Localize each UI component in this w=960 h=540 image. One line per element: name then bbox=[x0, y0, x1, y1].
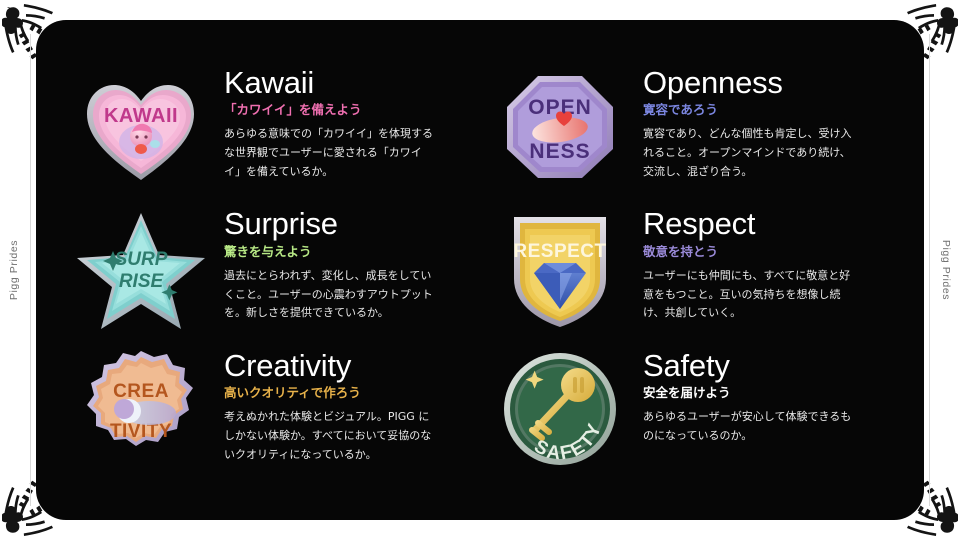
value-item-openness[interactable]: OPEN NESS Openness 寛容であろう 寛容であり、どんな個性も肯定… bbox=[491, 62, 894, 203]
values-grid: KAWAII Kawaii 「カワイイ」を備えよう あらゆる意味での「カワイイ」… bbox=[36, 20, 924, 520]
svg-text:KAWAII: KAWAII bbox=[104, 105, 178, 127]
badge-star-icon: SURP RISE bbox=[72, 203, 210, 331]
value-title-creativity: Creativity bbox=[224, 349, 475, 382]
svg-text:RESPECT: RESPECT bbox=[513, 241, 606, 262]
right-divider-rule bbox=[929, 34, 930, 506]
value-item-surprise[interactable]: SURP RISE Surprise 驚きを与えよう 過去にとらわれず、変化し、… bbox=[72, 203, 475, 344]
value-body-creativity: 考えぬかれた体験とビジュアル。PIGG にしかない体験か。すべてにおいて妥協のな… bbox=[224, 408, 436, 465]
badge-shield-icon: RESPECT bbox=[491, 203, 629, 331]
value-subtitle-kawaii: 「カワイイ」を備えよう bbox=[224, 102, 475, 119]
side-label-right: Pigg Prides bbox=[940, 240, 952, 300]
value-text-kawaii: Kawaii 「カワイイ」を備えよう あらゆる意味での「カワイイ」を体現するな世… bbox=[224, 62, 475, 182]
value-title-surprise: Surprise bbox=[224, 207, 475, 240]
value-body-kawaii: あらゆる意味での「カワイイ」を体現するな世界観でユーザーに愛される「カワイイ」を… bbox=[224, 125, 436, 182]
svg-text:NESS: NESS bbox=[529, 140, 590, 163]
value-item-respect[interactable]: RESPECT Respect 敬意を持とう ユーザーにも仲間にも、すべてに敬意… bbox=[491, 203, 894, 344]
value-title-openness: Openness bbox=[643, 66, 894, 99]
value-title-safety: Safety bbox=[643, 349, 894, 382]
value-body-openness: 寛容であり、どんな個性も肯定し、受け入れること。オープンマインドであり続け、交流… bbox=[643, 125, 855, 182]
value-text-surprise: Surprise 驚きを与えよう 過去にとらわれず、変化し、成長をしていくこと。… bbox=[224, 203, 475, 323]
svg-text:SURP: SURP bbox=[115, 249, 168, 270]
value-text-openness: Openness 寛容であろう 寛容であり、どんな個性も肯定し、受け入れること。… bbox=[643, 62, 894, 182]
svg-text:CREA: CREA bbox=[113, 381, 169, 402]
svg-text:RISE: RISE bbox=[119, 271, 165, 292]
value-subtitle-creativity: 高いクオリティで作ろう bbox=[224, 385, 475, 402]
value-item-kawaii[interactable]: KAWAII Kawaii 「カワイイ」を備えよう あらゆる意味での「カワイイ」… bbox=[72, 62, 475, 203]
value-body-safety: あらゆるユーザーが安心して体験できるものになっているのか。 bbox=[643, 408, 855, 446]
value-text-safety: Safety 安全を届けよう あらゆるユーザーが安心して体験できるものになってい… bbox=[643, 345, 894, 446]
value-body-respect: ユーザーにも仲間にも、すべてに敬意と好意をもつこと。互いの気持ちを想像し続け、共… bbox=[643, 267, 855, 324]
values-card: KAWAII Kawaii 「カワイイ」を備えよう あらゆる意味での「カワイイ」… bbox=[36, 20, 924, 520]
badge-octagon-icon: OPEN NESS bbox=[491, 62, 629, 190]
value-subtitle-respect: 敬意を持とう bbox=[643, 244, 894, 261]
value-subtitle-safety: 安全を届けよう bbox=[643, 385, 894, 402]
value-text-creativity: Creativity 高いクオリティで作ろう 考えぬかれた体験とビジュアル。PI… bbox=[224, 345, 475, 465]
side-label-left: Pigg Prides bbox=[8, 240, 20, 300]
value-subtitle-surprise: 驚きを与えよう bbox=[224, 244, 475, 261]
badge-circle-icon: SAFETY bbox=[491, 345, 629, 473]
badge-scallop-icon: CREA TIVITY bbox=[72, 345, 210, 473]
value-text-respect: Respect 敬意を持とう ユーザーにも仲間にも、すべてに敬意と好意をもつこと… bbox=[643, 203, 894, 323]
value-body-surprise: 過去にとらわれず、変化し、成長をしていくこと。ユーザーの心震わすアウトプットを。… bbox=[224, 267, 436, 324]
left-divider-rule bbox=[30, 34, 31, 506]
value-item-safety[interactable]: SAFETY Safety 安全を届けよう あらゆるユーザーが安心して体験できる… bbox=[491, 345, 894, 486]
value-item-creativity[interactable]: CREA TIVITY Creativity 高いクオリティで作ろう 考えぬかれ… bbox=[72, 345, 475, 486]
value-title-respect: Respect bbox=[643, 207, 894, 240]
value-subtitle-openness: 寛容であろう bbox=[643, 102, 894, 119]
value-title-kawaii: Kawaii bbox=[224, 66, 475, 99]
badge-heart-icon: KAWAII bbox=[72, 62, 210, 190]
